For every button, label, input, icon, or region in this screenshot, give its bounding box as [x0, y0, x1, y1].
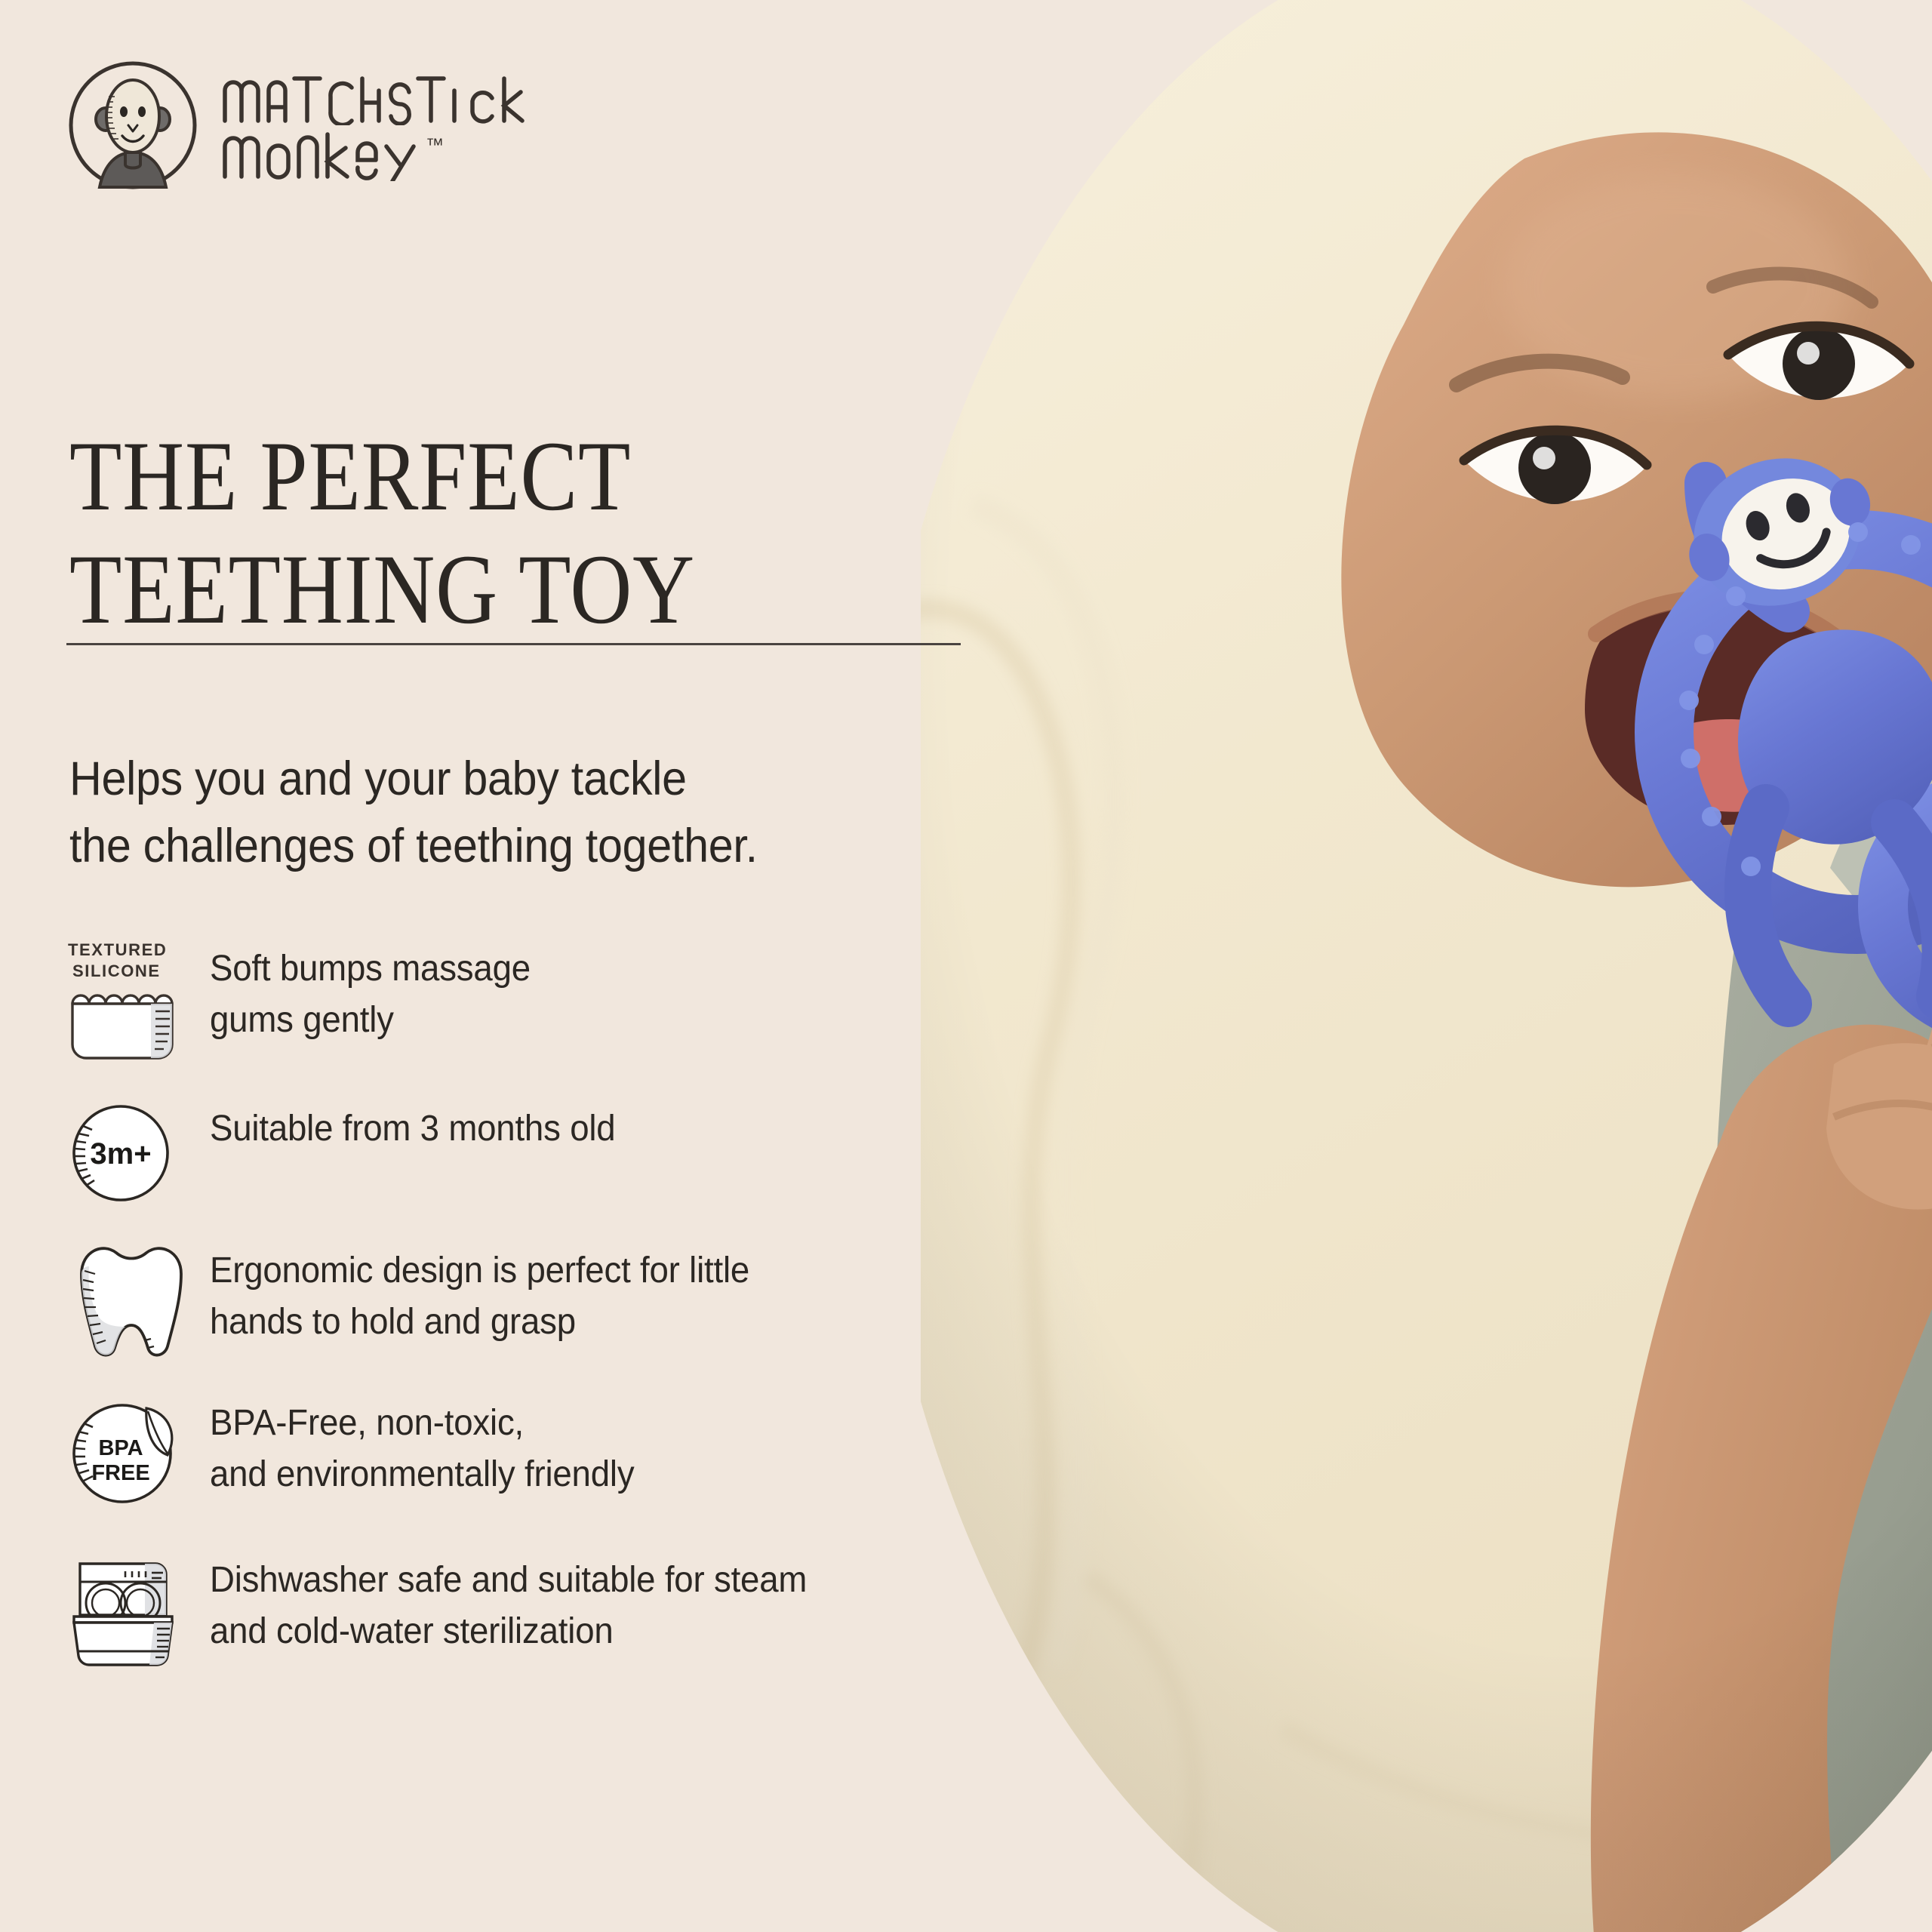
- content-column: ™ THE PERFECT TEETHING TOY Helps you and…: [0, 0, 1011, 1932]
- icon-label: 3m+: [90, 1137, 151, 1171]
- bpa-free-icon: BPA FREE: [66, 1390, 210, 1512]
- feature-item: BPA FREE BPA-Free, non-toxic, and enviro…: [66, 1390, 995, 1512]
- feature-list: TEXTURED SILICONE: [66, 936, 995, 1671]
- page-title: THE PERFECT TEETHING TOY: [69, 420, 816, 645]
- icon-label-line1: BPA: [98, 1436, 143, 1460]
- baby-chewing-teether-photo: [921, 0, 1932, 1932]
- title-divider: [66, 643, 961, 645]
- feature-item: TEXTURED SILICONE: [66, 936, 995, 1066]
- dishwasher-icon: [66, 1547, 210, 1671]
- icon-label-line2: FREE: [91, 1461, 149, 1485]
- feature-text: BPA-Free, non-toxic, and environmentally…: [210, 1390, 955, 1500]
- photo-illustration: [921, 0, 1932, 1932]
- feature-text: Soft bumps massage gums gently: [210, 936, 955, 1046]
- feature-text: Ergonomic design is perfect for little h…: [210, 1238, 955, 1348]
- subheading: Helps you and your baby tackle the chall…: [69, 746, 921, 881]
- feature-item: Dishwasher safe and suitable for steam a…: [66, 1547, 995, 1671]
- photo-panel: [921, 0, 1932, 1932]
- brand-wordmark: ™: [219, 69, 536, 181]
- icon-label-line1: TEXTURED: [68, 940, 167, 959]
- tooth-icon: [66, 1238, 210, 1361]
- trademark-symbol: ™: [426, 135, 444, 155]
- age-3-months-icon: 3m+: [66, 1096, 210, 1212]
- brand-logo[interactable]: ™: [66, 59, 536, 192]
- monkey-face-logo: [66, 59, 199, 192]
- icon-label-line2: SILICONE: [72, 961, 161, 980]
- feature-text: Suitable from 3 months old: [210, 1096, 955, 1155]
- feature-text: Dishwasher safe and suitable for steam a…: [210, 1547, 955, 1657]
- textured-silicone-icon: TEXTURED SILICONE: [66, 936, 210, 1066]
- feature-item: 3m+ Suitable from 3 months old: [66, 1096, 995, 1212]
- feature-item: Ergonomic design is perfect for little h…: [66, 1238, 995, 1361]
- wordmark-line1: [219, 69, 536, 125]
- wordmark-line2: ™: [219, 125, 536, 181]
